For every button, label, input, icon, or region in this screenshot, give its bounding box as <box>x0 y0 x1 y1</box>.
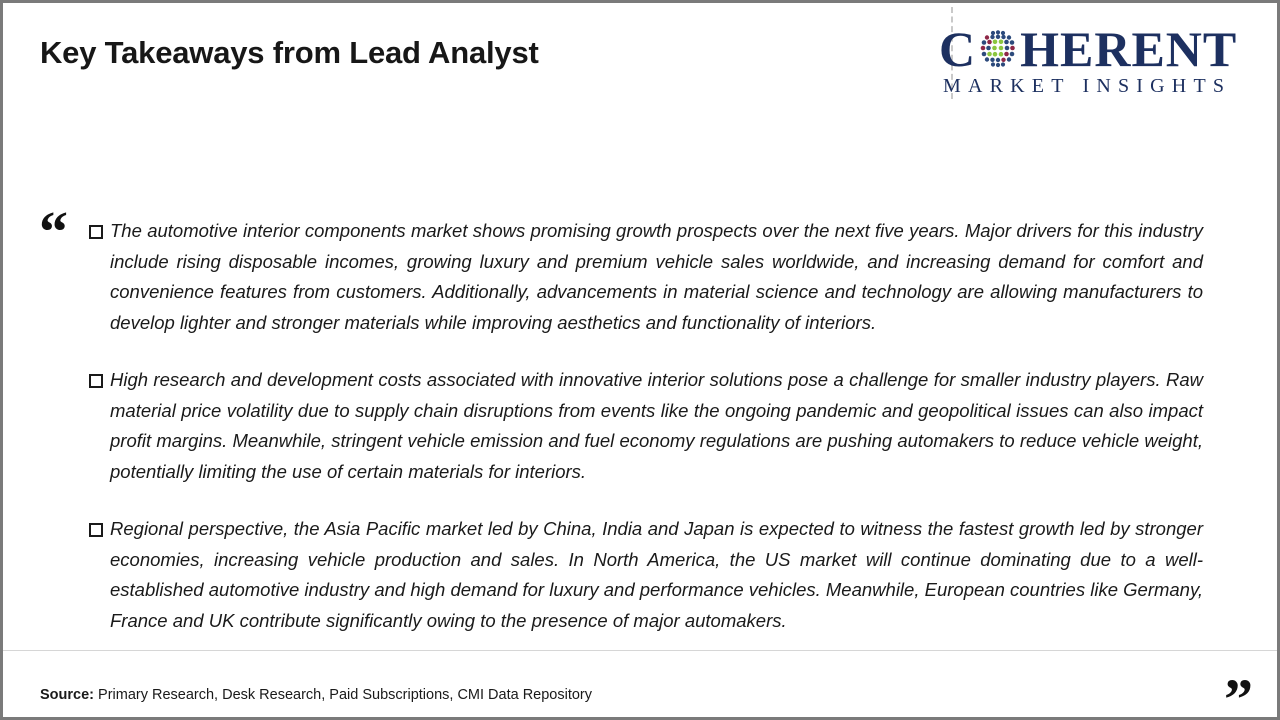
dotted-globe-icon <box>977 28 1019 70</box>
source-line: Source: Primary Research, Desk Research,… <box>40 687 1240 703</box>
list-item: High research and development costs asso… <box>89 365 1203 487</box>
footer-divider <box>3 650 1277 651</box>
takeaway-text: The automotive interior components marke… <box>110 216 1203 338</box>
hollow-square-bullet-icon <box>89 523 103 537</box>
hollow-square-bullet-icon <box>89 225 103 239</box>
logo-tagline: MARKET INSIGHTS <box>943 75 1259 98</box>
logo-letter-c: C <box>939 24 976 74</box>
takeaways-list: The automotive interior components marke… <box>89 216 1203 636</box>
slide-footer: Source: Primary Research, Desk Research,… <box>3 687 1277 703</box>
list-item: The automotive interior components marke… <box>89 216 1203 338</box>
takeaway-text: High research and development costs asso… <box>110 365 1203 487</box>
hollow-square-bullet-icon <box>89 374 103 388</box>
list-item: Regional perspective, the Asia Pacific m… <box>89 514 1203 636</box>
slide-header: Key Takeaways from Lead Analyst C <box>3 3 1277 103</box>
logo-wordmark: C <box>939 25 1259 73</box>
page-title: Key Takeaways from Lead Analyst <box>40 35 539 71</box>
company-logo: C <box>939 25 1259 98</box>
source-label: Source: <box>40 687 94 703</box>
source-value: Primary Research, Desk Research, Paid Su… <box>98 687 592 703</box>
logo-wordmark-text: HERENT <box>1020 24 1237 74</box>
slide-container: Key Takeaways from Lead Analyst C <box>0 0 1280 720</box>
takeaway-text: Regional perspective, the Asia Pacific m… <box>110 514 1203 636</box>
opening-quote-icon: “ <box>39 203 68 261</box>
